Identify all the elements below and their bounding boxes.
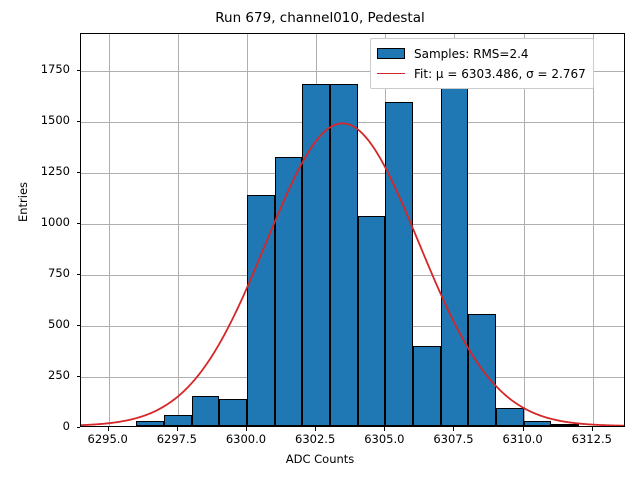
y-tick-label: 0 — [10, 419, 70, 433]
x-tick — [384, 427, 385, 431]
legend-label-fit: Fit: μ = 6303.486, σ = 2.767 — [414, 67, 586, 81]
y-tick — [77, 70, 81, 71]
y-tick — [77, 427, 81, 428]
legend-item-samples: Samples: RMS=2.4 — [377, 44, 586, 63]
x-tick — [177, 427, 178, 431]
x-tick-label: 6300.0 — [206, 432, 286, 446]
legend-item-fit: Fit: μ = 6303.486, σ = 2.767 — [377, 64, 586, 83]
y-tick — [77, 376, 81, 377]
legend-patch-icon — [377, 48, 405, 59]
y-tick-label: 1500 — [10, 113, 70, 127]
y-tick — [77, 172, 81, 173]
gaussian-fit-curve — [81, 34, 624, 426]
legend-label-samples: Samples: RMS=2.4 — [414, 47, 529, 61]
x-tick — [315, 427, 316, 431]
y-tick-label: 500 — [10, 317, 70, 331]
y-tick-label: 1750 — [10, 62, 70, 76]
x-tick-label: 6305.0 — [344, 432, 424, 446]
legend-line-icon — [377, 73, 405, 74]
legend: Samples: RMS=2.4 Fit: μ = 6303.486, σ = … — [370, 38, 594, 89]
histogram-figure: Run 679, channel010, Pedestal 6295.06297… — [0, 0, 640, 480]
y-tick — [77, 274, 81, 275]
x-tick-label: 6295.0 — [68, 432, 148, 446]
page-title: Run 679, channel010, Pedestal — [0, 10, 640, 26]
x-tick — [453, 427, 454, 431]
x-tick — [246, 427, 247, 431]
x-tick-label: 6302.5 — [275, 432, 355, 446]
y-tick — [77, 325, 81, 326]
x-tick — [108, 427, 109, 431]
x-tick — [523, 427, 524, 431]
y-tick — [77, 121, 81, 122]
x-tick-label: 6310.0 — [483, 432, 563, 446]
x-tick-label: 6312.5 — [552, 432, 632, 446]
plot-area — [80, 33, 625, 427]
y-tick — [77, 223, 81, 224]
y-tick-label: 250 — [10, 368, 70, 382]
x-axis-label: ADC Counts — [0, 452, 640, 466]
y-axis-label: Entries — [16, 132, 30, 272]
x-tick — [592, 427, 593, 431]
x-tick-label: 6307.5 — [413, 432, 493, 446]
x-tick-label: 6297.5 — [137, 432, 217, 446]
